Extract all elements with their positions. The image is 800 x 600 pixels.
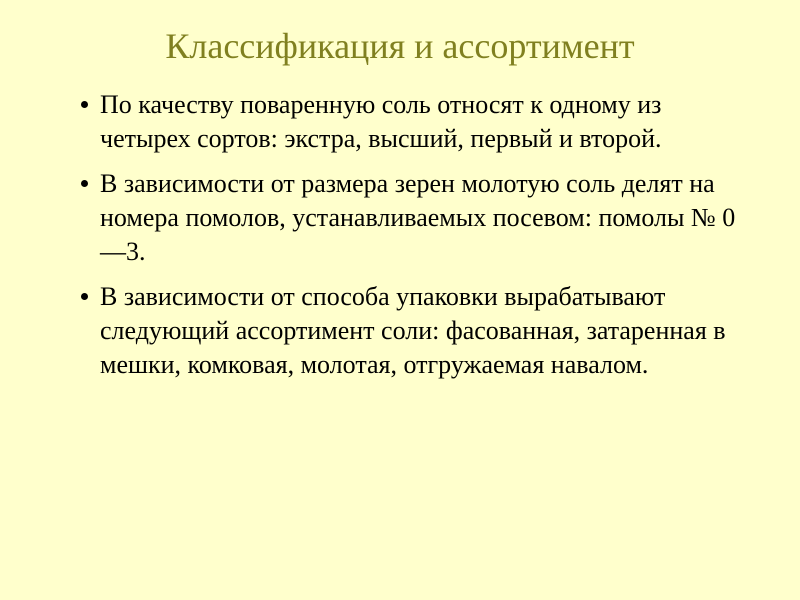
bullet-item-text: По качеству поваренную соль относят к од… <box>100 88 740 156</box>
bullet-list-item: В зависимости от размера зерен молотую с… <box>78 167 740 269</box>
bullet-list-item: В зависимости от способа упаковки выраба… <box>78 280 740 382</box>
bullet-dot-icon <box>81 101 88 108</box>
bullet-list-item: По качеству поваренную соль относят к од… <box>78 88 740 156</box>
slide-title: Классификация и ассортимент <box>40 24 760 68</box>
slide-body: По качеству поваренную соль относят к од… <box>78 88 740 382</box>
bullet-item-text: В зависимости от способа упаковки выраба… <box>100 280 740 382</box>
bullet-item-text: В зависимости от размера зерен молотую с… <box>100 167 740 269</box>
bullet-dot-icon <box>81 293 88 300</box>
bullet-dot-icon <box>81 180 88 187</box>
presentation-slide: Классификация и ассортимент По качеству … <box>0 0 800 600</box>
